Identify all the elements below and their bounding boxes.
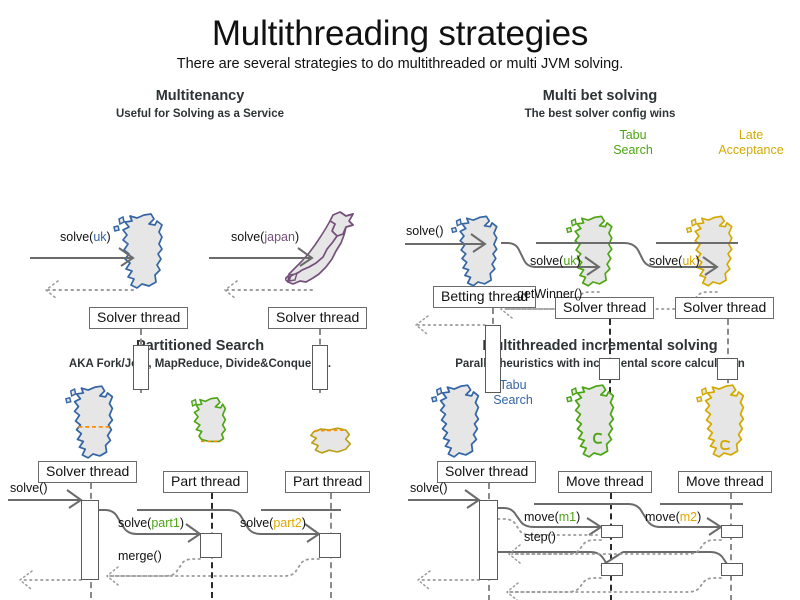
message-label-solve-uk: solve(uk)	[60, 230, 111, 244]
activation-solver	[81, 500, 99, 580]
sequence-arrows-multitenancy	[0, 88, 400, 333]
message-text: solve()	[10, 481, 48, 495]
activation-part2	[319, 533, 341, 558]
message-text: move(	[524, 510, 559, 524]
thread-box-solver-japan[interactable]: Solver thread	[268, 307, 367, 329]
activation-move2-a	[721, 525, 743, 538]
message-arg-m2: m2	[680, 510, 697, 524]
message-text: solve(	[231, 230, 264, 244]
message-text: getWinner()	[517, 287, 582, 301]
thread-box-solver[interactable]: Solver thread	[38, 461, 137, 483]
message-paren: )	[180, 516, 184, 530]
thread-box-label: Betting thread	[441, 288, 528, 304]
thread-box-part2[interactable]: Part thread	[285, 471, 370, 493]
activation-move1-b	[601, 563, 623, 576]
message-arg-uk: uk	[93, 230, 106, 244]
thread-box-move-1[interactable]: Move thread	[558, 471, 652, 493]
message-arg-uk: uk	[682, 254, 695, 268]
message-text: step()	[524, 530, 556, 544]
panel-multitenancy: Multitenancy Useful for Solving as a Ser…	[0, 88, 400, 333]
activation-solver-tabu	[599, 358, 620, 380]
page-subtitle: There are several strategies to do multi…	[0, 56, 800, 72]
activation-betting	[485, 325, 501, 393]
thread-box-label: Solver thread	[445, 463, 528, 479]
message-label-getwinner: getWinner()	[517, 287, 582, 301]
message-text: solve(	[118, 516, 151, 530]
thread-box-label: Part thread	[171, 473, 240, 489]
message-label-solve-uk-late: solve(uk)	[649, 254, 700, 268]
message-label-step: step()	[524, 530, 556, 544]
message-text: solve()	[410, 481, 448, 495]
activation-move1-a	[601, 525, 623, 538]
thread-box-solver-uk[interactable]: Solver thread	[89, 307, 188, 329]
thread-box-move-2[interactable]: Move thread	[678, 471, 772, 493]
thread-box-label: Solver thread	[97, 309, 180, 325]
activation-solver	[479, 500, 498, 580]
message-label-solve-uk-tabu: solve(uk)	[530, 254, 581, 268]
message-paren: )	[576, 510, 580, 524]
message-arg-uk: uk	[563, 254, 576, 268]
page-title: Multithreading strategies	[0, 14, 800, 54]
panel-partitioned-search: Partitioned Search AKA Fork/Join, MapRed…	[0, 338, 400, 600]
message-text: solve(	[649, 254, 682, 268]
message-label-solve-japan: solve(japan)	[231, 230, 299, 244]
thread-box-label: Solver thread	[563, 299, 646, 315]
message-label-solve: solve()	[406, 224, 444, 238]
message-text: move(	[645, 510, 680, 524]
activation-solver-late-acceptance	[717, 358, 738, 380]
message-arg-japan: japan	[264, 230, 295, 244]
message-label-solve-part1: solve(part1)	[118, 516, 184, 530]
thread-box-label: Solver thread	[683, 299, 766, 315]
thread-box-solver-late-acceptance[interactable]: Solver thread	[675, 297, 774, 319]
thread-box-part1[interactable]: Part thread	[163, 471, 248, 493]
thread-box-label: Move thread	[566, 473, 644, 489]
message-paren: )	[302, 516, 306, 530]
thread-box-label: Solver thread	[46, 463, 129, 479]
activation-part1	[200, 533, 222, 558]
thread-box-label: Solver thread	[276, 309, 359, 325]
message-text: solve(	[60, 230, 93, 244]
activation-move2-b	[721, 563, 743, 576]
message-paren: )	[295, 230, 299, 244]
message-label-solve-part2: solve(part2)	[240, 516, 306, 530]
activation-solver-japan	[312, 345, 328, 390]
slide-canvas: Multithreading strategies There are seve…	[0, 0, 800, 600]
message-arg-m1: m1	[559, 510, 576, 524]
message-text: solve(	[240, 516, 273, 530]
message-label-merge: merge()	[118, 549, 162, 563]
message-label-solve: solve()	[10, 481, 48, 495]
message-paren: )	[107, 230, 111, 244]
panel-multi-bet-solving: Multi bet solving The best solver config…	[400, 88, 800, 333]
message-paren: )	[696, 254, 700, 268]
activation-solver-uk	[133, 345, 149, 390]
message-text: solve(	[530, 254, 563, 268]
message-arg-part1: part1	[151, 516, 180, 530]
message-label-move-m1: move(m1)	[524, 510, 580, 524]
thread-box-label: Move thread	[686, 473, 764, 489]
message-text: solve()	[406, 224, 444, 238]
thread-box-label: Part thread	[293, 473, 362, 489]
message-arg-part2: part2	[273, 516, 302, 530]
message-label-move-m2: move(m2)	[645, 510, 701, 524]
message-paren: )	[577, 254, 581, 268]
message-text: merge()	[118, 549, 162, 563]
message-label-solve: solve()	[410, 481, 448, 495]
thread-box-solver[interactable]: Solver thread	[437, 461, 536, 483]
message-paren: )	[697, 510, 701, 524]
